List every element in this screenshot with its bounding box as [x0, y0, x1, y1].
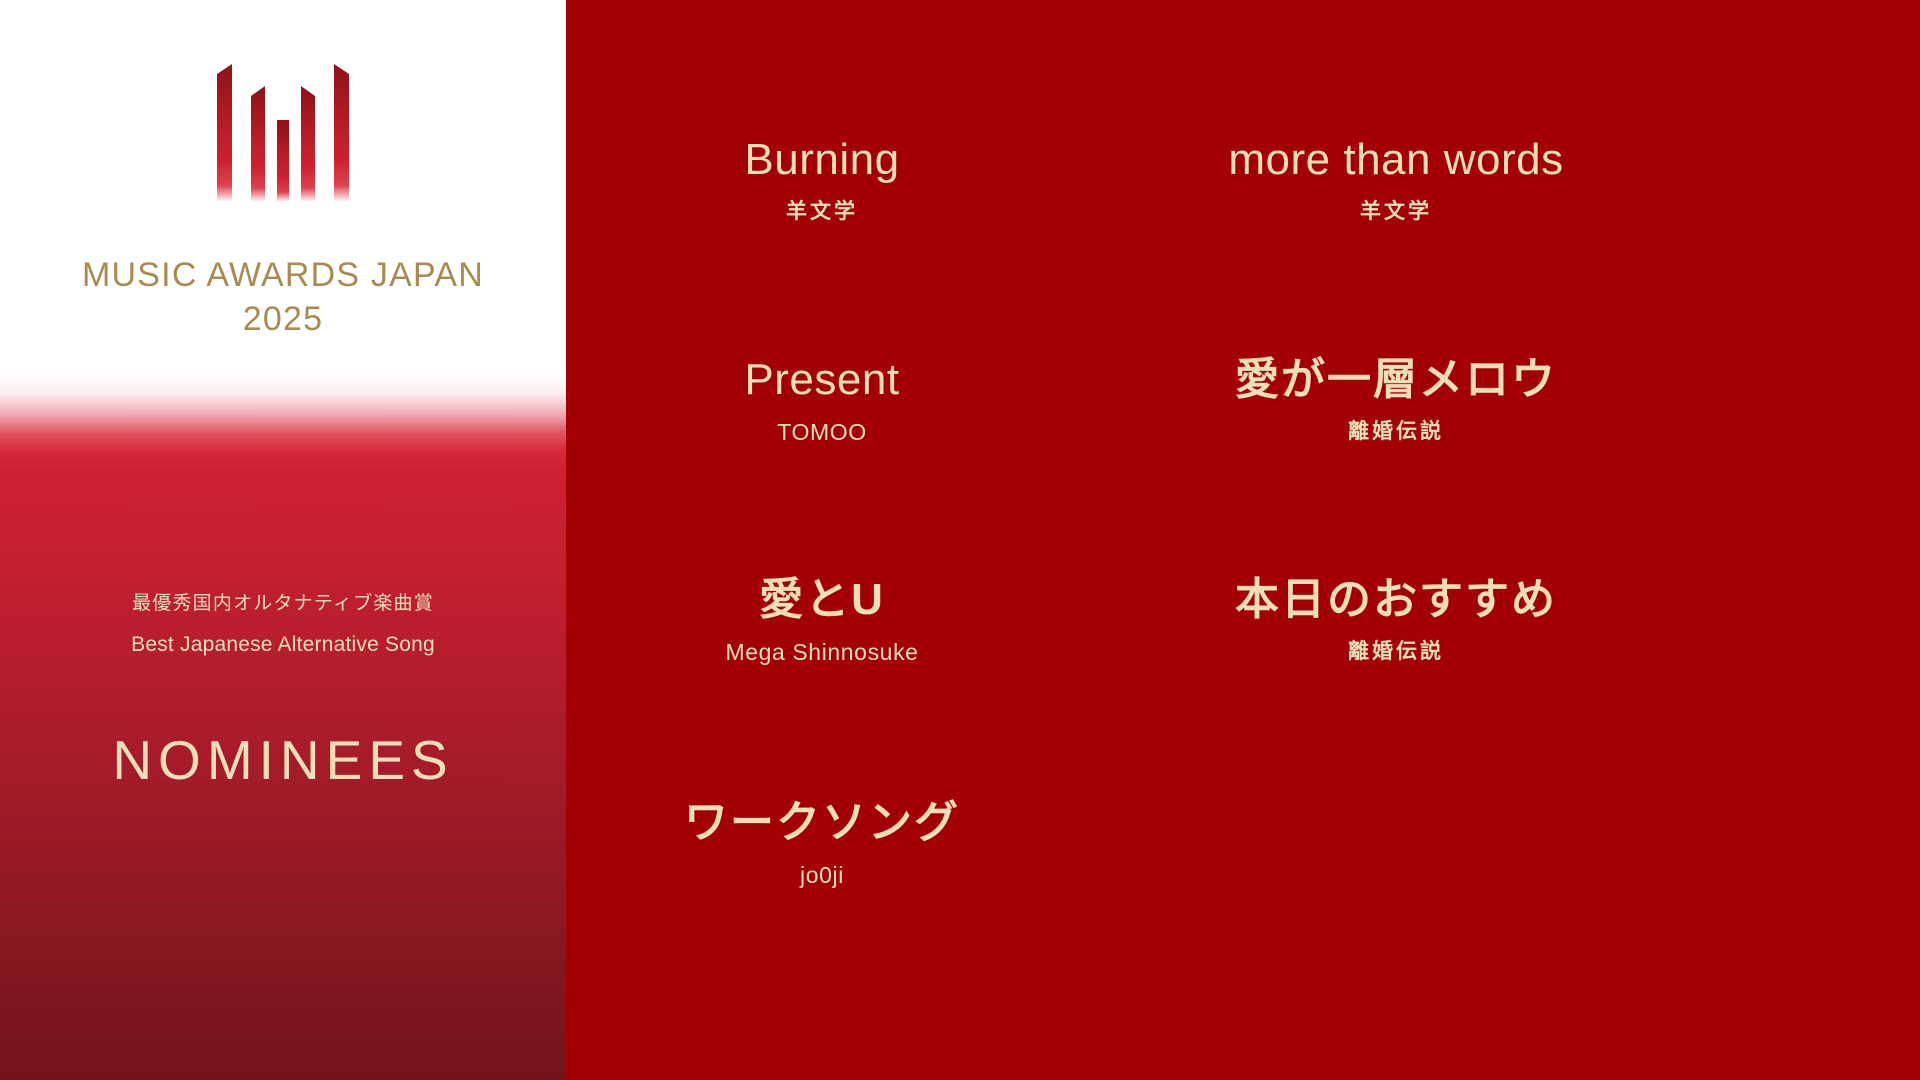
nominee-artist: TOMOO [562, 418, 1082, 448]
nominee-title: Present [562, 355, 1082, 404]
nominee-artist: Mega Shinnosuke [562, 638, 1082, 668]
page-title: NOMINEES [0, 730, 566, 791]
wordmark-line-2: 2025 [0, 298, 566, 341]
nominee-artist: jo0ji [562, 861, 1082, 891]
nominee-artist: 羊文学 [1136, 198, 1656, 225]
wordmark-line-1: MUSIC AWARDS JAPAN [0, 258, 566, 294]
award-category-english: Best Japanese Alternative Song [0, 629, 566, 661]
nominee-card[interactable]: Burning羊文学 [562, 135, 1082, 226]
nominee-title: ワークソング [562, 798, 1082, 847]
nominee-artist: 離婚伝説 [1136, 418, 1656, 445]
nominee-list-panel: Burning羊文学PresentTOMOO愛とUMega Shinnosuke… [566, 0, 1920, 1080]
nominee-card[interactable]: ワークソングjo0ji [562, 798, 1082, 891]
nominee-title: 愛とU [562, 575, 1082, 624]
nominee-announcement-slide: MUSIC AWARDS JAPAN 2025 最優秀国内オルタナティブ楽曲賞 … [0, 0, 1920, 1080]
award-category-japanese: 最優秀国内オルタナティブ楽曲賞 [0, 590, 566, 619]
nominee-card[interactable]: 愛が一層メロウ離婚伝説 [1136, 355, 1656, 446]
award-category: 最優秀国内オルタナティブ楽曲賞 Best Japanese Alternativ… [0, 590, 566, 660]
nominee-grid: Burning羊文学PresentTOMOO愛とUMega Shinnosuke… [566, 0, 1920, 1080]
nominee-card[interactable]: PresentTOMOO [562, 355, 1082, 448]
nominee-title: Burning [562, 135, 1082, 184]
nominee-title: more than words [1136, 135, 1656, 184]
brand-wordmark: MUSIC AWARDS JAPAN 2025 [0, 258, 566, 340]
nominee-artist: 羊文学 [562, 198, 1082, 225]
nominee-card[interactable]: more than words羊文学 [1136, 135, 1656, 226]
award-identity-panel: MUSIC AWARDS JAPAN 2025 最優秀国内オルタナティブ楽曲賞 … [0, 0, 566, 1080]
nominee-card[interactable]: 本日のおすすめ離婚伝説 [1136, 575, 1656, 666]
nominee-title: 本日のおすすめ [1136, 575, 1656, 624]
nominee-card[interactable]: 愛とUMega Shinnosuke [562, 575, 1082, 668]
nominee-title: 愛が一層メロウ [1136, 355, 1656, 404]
nominee-artist: 離婚伝説 [1136, 638, 1656, 665]
music-awards-japan-bars-logo-icon [215, 62, 351, 202]
